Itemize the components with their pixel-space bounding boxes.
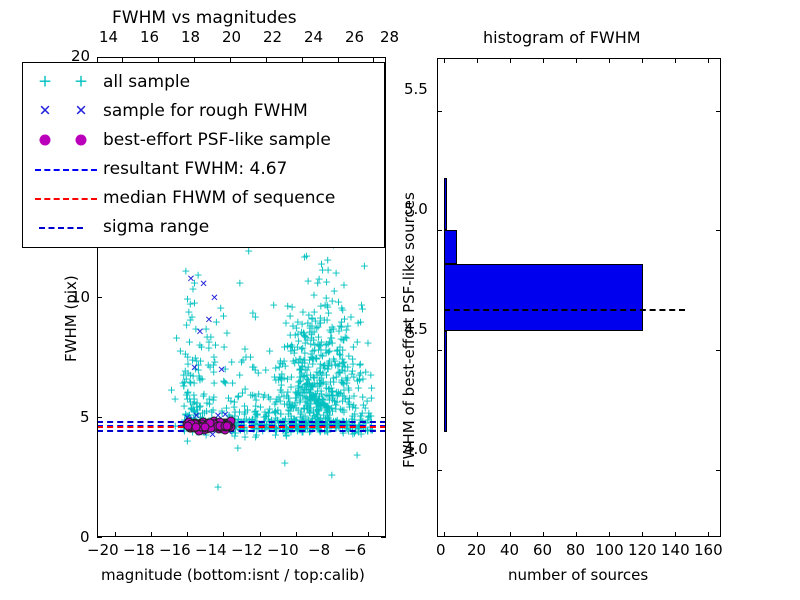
y-tick-label: 5.5 (404, 80, 428, 98)
legend-label: median FHWM of sequence (103, 188, 335, 208)
x-tick-label: 100 (595, 541, 624, 559)
dashed-line-icon (29, 186, 103, 210)
histogram-xlabel: number of sources (508, 566, 648, 584)
legend-label: sample for rough FWHM (103, 101, 308, 121)
reference-line (444, 309, 685, 311)
x-tick-label: 80 (566, 541, 585, 559)
figure-canvas: FWHM vs magnitudes 14 16 18 20 22 24 26 … (0, 0, 800, 600)
x-tick-label: 120 (628, 541, 657, 559)
x-tick-label: 60 (533, 541, 552, 559)
histogram-ylabel: FWHM of best-effort PSF-like sources (400, 192, 418, 468)
x-tick-label: 40 (500, 541, 519, 559)
histogram-bar (444, 331, 447, 432)
legend-item-median-fhwm: median FHWM of sequence (29, 183, 378, 212)
circle-marker-icon (29, 128, 103, 152)
x-tick-label: 140 (661, 541, 690, 559)
cross-marker-icon: ✕ ✕ (29, 99, 103, 123)
dashdot-line-icon (29, 215, 103, 239)
legend-label: all sample (103, 72, 190, 92)
dashed-line-icon (29, 157, 103, 181)
legend-label: sigma range (103, 217, 209, 237)
plus-marker-icon: + + (29, 70, 103, 94)
x-tick-label: 160 (694, 541, 723, 559)
legend-item-all-sample: + + all sample (29, 67, 378, 96)
legend-label: resultant FWHM: 4.67 (103, 159, 287, 179)
scatter-legend: + + all sample ✕ ✕ sample for rough FWHM… (22, 62, 385, 248)
legend-item-sigma-range: sigma range (29, 212, 378, 241)
x-tick-label: 0 (436, 541, 446, 559)
histogram-bar (444, 230, 457, 264)
legend-item-psf-like: best-effort PSF-like sample (29, 125, 378, 154)
histogram-bar (444, 264, 644, 331)
x-tick-label: 20 (467, 541, 486, 559)
legend-item-resultant-fwhm: resultant FWHM: 4.67 (29, 154, 378, 183)
legend-label: best-effort PSF-like sample (103, 130, 331, 150)
histogram-data-area (438, 59, 720, 536)
histogram-bar (444, 178, 447, 231)
legend-item-rough-fwhm: ✕ ✕ sample for rough FWHM (29, 96, 378, 125)
